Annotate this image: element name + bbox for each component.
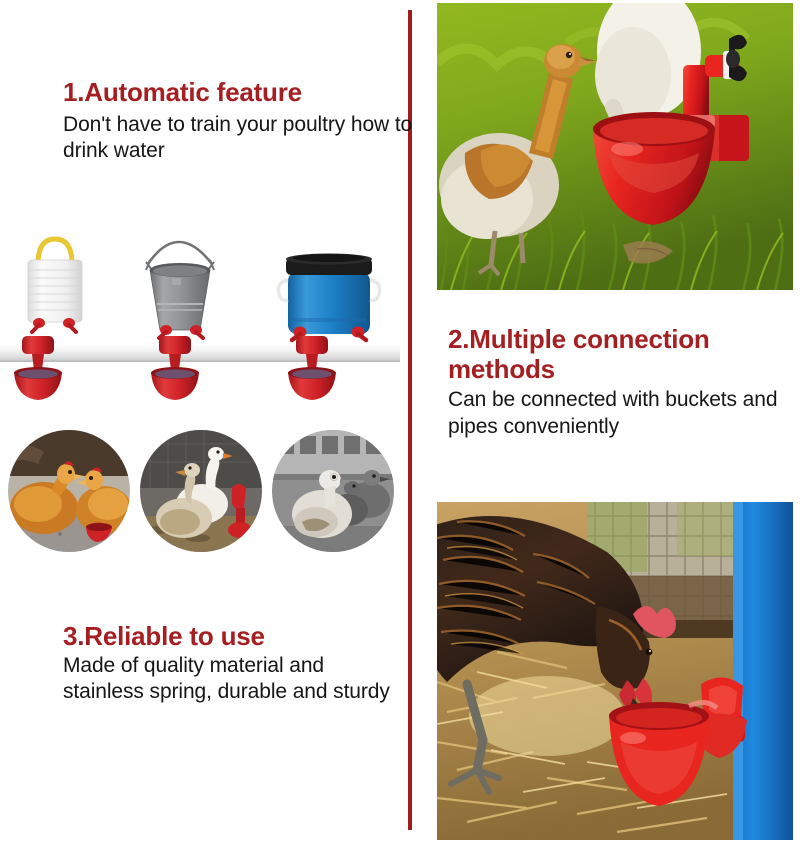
circle-photo-pigeons: [272, 430, 394, 552]
connection-diagram-svg: [0, 222, 400, 407]
infographic-page: 1.Automatic feature Don't have to train …: [0, 0, 800, 844]
feature-heading-automatic: 1.Automatic feature: [63, 78, 413, 108]
photo-chickens-grass: [437, 3, 793, 290]
feature-block-connection: 2.Multiple connection methods Can be con…: [448, 325, 788, 440]
feature-body-connection: Can be connected with buckets and pipes …: [448, 387, 788, 440]
photo-hen-drinking: [437, 502, 793, 840]
container-metal-bucket: [146, 242, 214, 338]
feature-block-automatic: 1.Automatic feature Don't have to train …: [63, 78, 413, 165]
feature-block-reliable: 3.Reliable to use Made of quality materi…: [63, 622, 393, 706]
container-white-jug: [28, 239, 82, 332]
feature-body-automatic: Don't have to train your poultry how to …: [63, 112, 413, 165]
feature-heading-reliable: 3.Reliable to use: [63, 622, 393, 652]
feature-heading-connection: 2.Multiple connection methods: [448, 325, 788, 384]
circle-photo-chickens: [8, 430, 130, 552]
circle-photo-geese: [140, 430, 262, 552]
connection-methods-diagram: [0, 222, 400, 407]
water-pipe: [0, 344, 400, 362]
bird-photo-circles: [0, 428, 400, 554]
container-blue-barrel: [278, 254, 379, 341]
feature-body-reliable: Made of quality material and stainless s…: [63, 653, 393, 706]
